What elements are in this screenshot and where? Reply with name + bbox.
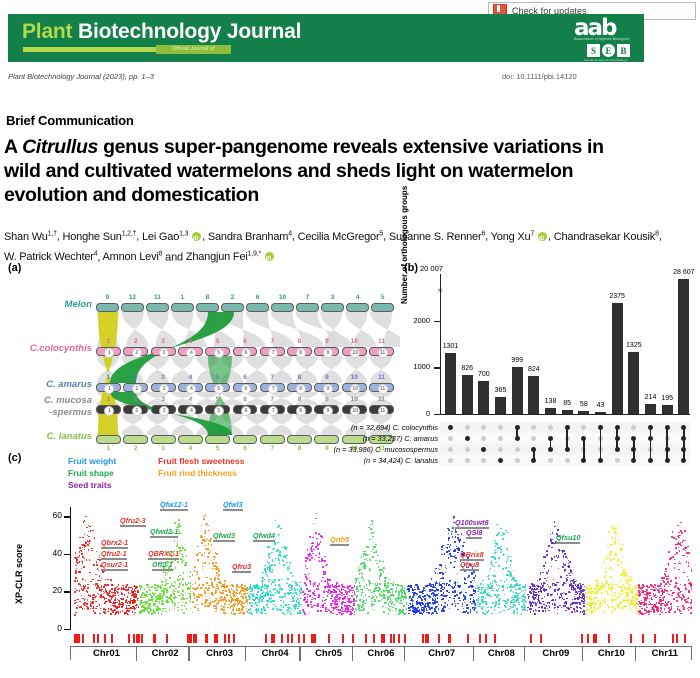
chromosome-number: 11 <box>372 338 392 345</box>
chromosome-bar[interactable] <box>346 303 369 312</box>
qtl-tick <box>593 634 595 643</box>
chromosome-number: 7 <box>298 294 318 301</box>
qtl-tick <box>128 634 130 643</box>
synteny-marker-dot: 2 <box>132 348 142 358</box>
chromosome-bar[interactable] <box>121 303 144 312</box>
chromosome-number: 3 <box>153 338 173 345</box>
y-tick-label: 1000 <box>404 362 430 371</box>
synteny-marker-dot: 4 <box>186 384 196 394</box>
upset-bar[interactable] <box>462 375 473 414</box>
synteny-marker-dot: 11 <box>378 406 388 416</box>
y-tick-label: 20 <box>40 585 62 595</box>
aab-logo-subtitle: Association of Applied Biologists <box>574 37 630 41</box>
chromosome-number: 7 <box>262 338 282 345</box>
matrix-connector <box>550 438 551 449</box>
chromosome-number: 1 <box>98 396 118 403</box>
panel-a-letter: (a) <box>8 262 21 274</box>
matrix-dot-filled[interactable] <box>465 436 470 441</box>
matrix-dot-empty[interactable] <box>498 425 503 430</box>
qtl-tick <box>224 634 226 643</box>
qtl-tick <box>381 634 383 643</box>
chromosome-number: 10 <box>273 294 293 301</box>
upset-set-label: (n = 32,694) C. colocynthis <box>278 423 438 432</box>
chromosome-number: 9 <box>317 374 337 381</box>
chromosome-bar[interactable] <box>271 303 294 312</box>
chromosome-number: 10 <box>344 396 364 403</box>
chromosome-number: 6 <box>235 396 255 403</box>
chromosome-separator <box>582 647 583 661</box>
chromosome-number: 6 <box>235 374 255 381</box>
qtl-annotation[interactable]: Qfru3 <box>232 562 251 571</box>
upset-bar[interactable] <box>628 352 639 414</box>
qtl-tick <box>438 634 440 643</box>
author-name[interactable]: Yong Xu7 <box>491 231 535 243</box>
matrix-dot-filled[interactable] <box>448 425 453 430</box>
chromosome-number: 3 <box>153 396 173 403</box>
chromosome-number: 2 <box>126 338 146 345</box>
qtl-tick <box>485 634 487 643</box>
qtl-tick <box>393 634 395 643</box>
chromosome-axis-label[interactable]: Chr09 <box>534 648 578 659</box>
synteny-marker-dot: 9 <box>323 348 333 358</box>
chromosome-number: 2 <box>126 374 146 381</box>
qtl-tick <box>228 634 230 643</box>
synteny-marker-dot: 1 <box>104 384 114 394</box>
qtl-tick <box>93 634 95 643</box>
seb-letter-e: E <box>602 44 615 57</box>
synteny-marker-dot: 7 <box>268 406 278 416</box>
chromosome-bar[interactable] <box>233 435 258 444</box>
matrix-dot-empty[interactable] <box>548 425 553 430</box>
bar-value-label: 28 607 <box>669 269 699 276</box>
qtl-tick <box>328 634 330 643</box>
qtl-tick <box>608 634 610 643</box>
chromosome-number: 4 <box>348 294 368 301</box>
chromosome-bar[interactable] <box>171 303 194 312</box>
matrix-dot-empty[interactable] <box>498 436 503 441</box>
axis-break-icon: ≈ <box>438 286 442 295</box>
y-tick <box>434 414 440 415</box>
qtl-tick <box>479 634 481 643</box>
synteny-marker-dot: 10 <box>350 348 360 358</box>
qtl-annotation[interactable]: Qrth5 <box>330 535 349 544</box>
chromosome-scatter-band[interactable] <box>585 507 637 629</box>
qtl-tick <box>494 634 496 643</box>
chromosome-separator <box>635 647 636 661</box>
chromosome-number: 9 <box>317 396 337 403</box>
synteny-marker-dot: 4 <box>186 406 196 416</box>
chromosome-bar[interactable] <box>178 435 203 444</box>
qtl-tick <box>78 634 80 643</box>
author-name[interactable]: Sandra Branham4 <box>208 231 292 243</box>
chromosome-number: 11 <box>372 396 392 403</box>
qtl-annotation[interactable]: Qfru2-1 <box>101 549 127 558</box>
chromosome-bar[interactable] <box>96 303 119 312</box>
panel-b-x-axis <box>440 414 690 415</box>
qtl-tick <box>265 634 267 643</box>
upset-bar[interactable] <box>678 279 689 414</box>
matrix-connector <box>616 427 617 449</box>
qtl-annotation[interactable]: Qfwl3 <box>223 500 243 509</box>
chromosome-bar[interactable] <box>146 303 169 312</box>
chromosome-number: 6 <box>248 294 268 301</box>
chromosome-number: 4 <box>180 374 200 381</box>
author-name[interactable]: Amnon Levi8 <box>103 251 163 263</box>
chromosome-number: 5 <box>208 338 228 345</box>
qtl-tick <box>311 634 313 643</box>
chromosome-number: 1 <box>98 445 118 452</box>
synteny-marker-dot: 9 <box>323 406 333 416</box>
synteny-marker-dot: 11 <box>378 384 388 394</box>
chromosome-number: 4 <box>180 338 200 345</box>
chromosome-bar[interactable] <box>246 303 269 312</box>
author-separator: , <box>57 231 63 243</box>
upset-bar[interactable] <box>645 404 656 414</box>
qtl-tick <box>581 634 583 643</box>
qtl-tick <box>138 634 140 643</box>
chromosome-separator <box>473 647 474 661</box>
author-list: Shan Wu1,†, Honghe Sun1,2,†, Lei Gao1,3 … <box>4 225 674 266</box>
qtl-tick <box>422 634 424 643</box>
synteny-marker-dot: 3 <box>159 406 169 416</box>
chromosome-axis-label[interactable]: Chr07 <box>420 648 464 659</box>
title-pre: A <box>4 136 22 158</box>
seb-logo-subtitle: Society for Experimental Biology <box>584 58 630 62</box>
qtl-tick <box>216 634 218 643</box>
chromosome-separator <box>188 647 189 661</box>
synteny-marker-dot: 10 <box>350 384 360 394</box>
synteny-marker-dot: 5 <box>214 348 224 358</box>
upset-bar[interactable] <box>445 353 456 414</box>
qtl-tick <box>448 634 450 643</box>
synteny-marker-dot: 5 <box>214 384 224 394</box>
chromosome-number: 4 <box>180 445 200 452</box>
qtl-annotation[interactable]: QBrix8 <box>460 550 484 559</box>
masthead-rule-tag: Official Journal of <box>156 45 231 54</box>
bar-value-label: 999 <box>502 357 532 364</box>
y-tick-label: 0 <box>40 623 62 633</box>
author-name[interactable]: Honghe Sun1,2,† <box>63 231 137 243</box>
bar-value-label: 1325 <box>619 342 649 349</box>
chromosome-number: 2 <box>126 396 146 403</box>
chromosome-number: 6 <box>235 445 255 452</box>
qtl-tick <box>425 634 427 643</box>
author-name[interactable]: Lei Gao1,3 <box>142 231 188 243</box>
chromosome-number: 3 <box>153 374 173 381</box>
qtl-tick <box>587 634 589 643</box>
upset-bar[interactable] <box>595 412 606 414</box>
panel-c-manhattan-plot: XP-CLR score Fruit weightFruit flesh swe… <box>8 452 696 674</box>
author-separator: , <box>292 231 298 243</box>
qtl-tick <box>188 634 190 643</box>
synteny-marker-dot: 8 <box>296 348 306 358</box>
orcid-icon[interactable] <box>538 232 547 241</box>
qtl-tick <box>166 634 168 643</box>
chromosome-axis-label[interactable]: Chr04 <box>253 648 297 659</box>
chromosome-bar[interactable] <box>321 303 344 312</box>
qtl-annotation[interactable]: Qfru8 <box>460 560 479 569</box>
chromosome-number: 5 <box>208 374 228 381</box>
chromosome-number: 5 <box>208 445 228 452</box>
legend-item: Fruit weight <box>68 456 116 466</box>
synteny-marker-dot: 8 <box>296 384 306 394</box>
qtl-tick <box>104 634 106 643</box>
panel-c-y-axis <box>70 507 71 629</box>
synteny-marker-dot: 9 <box>323 384 333 394</box>
upset-bar[interactable] <box>528 376 539 414</box>
author-separator: , <box>659 231 662 243</box>
qtl-tick <box>672 634 674 643</box>
chromosome-scatter-band[interactable] <box>355 507 407 629</box>
synteny-marker-dot: 6 <box>241 348 251 358</box>
bar-value-label: 1301 <box>436 343 466 350</box>
qtl-tick <box>298 634 300 643</box>
matrix-dot-empty[interactable] <box>448 436 453 441</box>
article-type: Brief Communication <box>6 113 134 128</box>
chromosome-scatter-band[interactable] <box>248 507 302 629</box>
author-separator: , <box>548 231 554 243</box>
qtl-tick <box>233 634 235 643</box>
chromosome-number: 7 <box>262 374 282 381</box>
chromosome-bar[interactable] <box>221 303 244 312</box>
synteny-marker-dot: 1 <box>104 348 114 358</box>
author-separator: , <box>97 251 102 263</box>
chromosome-bar[interactable] <box>205 435 230 444</box>
page-title: A Citrullus genus super-pangenome reveal… <box>4 135 644 207</box>
synteny-marker-dot: 2 <box>132 384 142 394</box>
author-name[interactable]: Chandrasekar Kousik8 <box>554 231 659 243</box>
bar-value-label: 824 <box>519 366 549 373</box>
chromosome-bar[interactable] <box>96 435 121 444</box>
journal-title: Plant Biotechnology Journal <box>22 20 301 44</box>
chromosome-bar[interactable] <box>196 303 219 312</box>
seb-letter-b: B <box>617 44 630 57</box>
author-name[interactable]: Shan Wu1,† <box>4 231 57 243</box>
chromosome-number: 1 <box>98 374 118 381</box>
upset-bar[interactable] <box>662 405 673 414</box>
synteny-marker-dot: 5 <box>214 406 224 416</box>
qtl-tick <box>365 634 367 643</box>
chromosome-number: 9 <box>97 294 117 301</box>
doi-text[interactable]: doi: 10.1111/pbi.14120 <box>502 72 577 81</box>
qtl-annotation[interactable]: Qfwd4 <box>253 531 275 540</box>
upset-bar[interactable] <box>562 410 573 414</box>
synteny-marker-dot: 2 <box>132 406 142 416</box>
synteny-marker-dot: 8 <box>296 406 306 416</box>
y-tick <box>64 516 71 517</box>
qtl-tick <box>141 634 143 643</box>
qtl-tick <box>97 634 99 643</box>
author-separator: and <box>162 251 185 263</box>
qtl-annotation[interactable]: QBRX2-1 <box>148 549 179 558</box>
qtl-annotation[interactable]: Q100swt8 <box>455 518 489 527</box>
qtl-annotation[interactable]: Qfw12-1 <box>160 500 188 509</box>
upset-bar[interactable] <box>578 411 589 414</box>
panel-c-y-axis-label: XP-CLR score <box>14 544 24 604</box>
qtl-annotation[interactable]: Qsur2-1 <box>101 560 128 569</box>
y-tick-label: 40 <box>40 548 62 558</box>
chromosome-number: 1 <box>172 294 192 301</box>
chromosome-number: 8 <box>290 338 310 345</box>
matrix-dot-empty[interactable] <box>465 425 470 430</box>
journal-title-word2: Biotechnology Journal <box>78 20 301 43</box>
qtl-annotation[interactable]: Qfsu10 <box>556 533 580 542</box>
qtl-tick <box>287 634 289 643</box>
y-tick <box>64 554 71 555</box>
author-separator: , <box>485 231 491 243</box>
qtl-tick <box>271 634 273 643</box>
chromosome-axis-label[interactable]: Chr08 <box>479 648 523 659</box>
chromosome-axis-label[interactable]: Chr06 <box>359 648 403 659</box>
synteny-marker-dot: 3 <box>159 384 169 394</box>
legend-item: Fruit shape <box>68 468 114 478</box>
qtl-tick <box>195 634 197 643</box>
y-tick <box>434 321 440 322</box>
qtl-annotation[interactable]: Qfru2-3 <box>120 516 146 525</box>
synteny-marker-dot: 6 <box>241 406 251 416</box>
chromosome-number: 10 <box>344 374 364 381</box>
qtl-tick <box>314 634 316 643</box>
qtl-tick <box>133 634 135 643</box>
panel-b-y-axis-label: Number of orthologous groups <box>400 184 409 304</box>
upset-bar[interactable] <box>545 408 556 414</box>
legend-item: Fruit flesh sweetness <box>158 456 244 466</box>
qtl-tick <box>291 634 293 643</box>
chromosome-axis-label[interactable]: Chr11 <box>643 648 687 659</box>
qtl-tick <box>684 634 686 643</box>
chromosome-number: 11 <box>372 374 392 381</box>
chromosome-scatter-band[interactable] <box>527 507 586 629</box>
synteny-marker-dot: 7 <box>268 348 278 358</box>
qtl-tick <box>352 634 354 643</box>
qtl-tick <box>281 634 283 643</box>
qtl-tick <box>467 634 469 643</box>
chromosome-number: 8 <box>197 294 217 301</box>
qtl-tick <box>676 634 678 643</box>
qtl-annotation[interactable]: QSl8 <box>466 528 482 537</box>
upset-bar[interactable] <box>512 367 523 414</box>
chromosome-axis-label[interactable]: Chr01 <box>84 648 128 659</box>
y-tick-label: 60 <box>40 510 62 520</box>
chromosome-separator <box>524 647 525 661</box>
chromosome-number: 10 <box>344 338 364 345</box>
chromosome-number: 8 <box>290 396 310 403</box>
synteny-marker-dot: 3 <box>159 348 169 358</box>
bar-value-label: 700 <box>469 371 499 378</box>
synteny-marker-dot: 6 <box>241 384 251 394</box>
qtl-tick <box>530 634 532 643</box>
synteny-marker-dot: 11 <box>378 348 388 358</box>
chromosome-axis-label[interactable]: Chr10 <box>589 648 633 659</box>
chromosome-bar[interactable] <box>123 435 148 444</box>
y-tick-label: 0 <box>404 409 430 418</box>
qtl-tick <box>273 634 275 643</box>
running-head-citation: Plant Biotechnology Journal (2023), pp. … <box>8 72 154 81</box>
qtl-tick <box>630 634 632 643</box>
chromosome-separator <box>404 647 405 661</box>
orcid-icon[interactable] <box>192 232 201 241</box>
upset-bar[interactable] <box>495 397 506 414</box>
qtl-tick <box>342 634 344 643</box>
matrix-connector <box>566 427 567 449</box>
chromosome-bar[interactable] <box>296 303 319 312</box>
qtl-annotation[interactable]: Qfwd3 <box>213 531 235 540</box>
qtl-tick <box>398 634 400 643</box>
journal-masthead: Plant Biotechnology Journal Official Jou… <box>8 14 644 62</box>
chromosome-number: 9 <box>317 338 337 345</box>
qtl-annotation[interactable]: Qfwd2-1 <box>150 527 178 536</box>
qtl-tick <box>404 634 406 643</box>
qtl-annotation[interactable]: Qbrx2-1 <box>101 538 128 547</box>
matrix-connector <box>516 427 517 438</box>
author-name[interactable]: Cecilia McGregor5 <box>298 231 383 243</box>
qtl-tick <box>642 634 644 643</box>
journal-title-word1: Plant <box>22 20 72 43</box>
qtl-annotation[interactable]: Off2-1 <box>152 560 173 569</box>
chromosome-number: 5 <box>208 396 228 403</box>
upset-set-label: (n = 33,237) C. amarus <box>278 434 438 443</box>
legend-item: Fruit rind thickness <box>158 468 237 478</box>
chromosome-number: 1 <box>98 338 118 345</box>
panel-b-upset-plot: Number of orthologous groups ≈ 20 007 01… <box>404 262 696 462</box>
chromosome-number: 8 <box>290 374 310 381</box>
chromosome-axis-label[interactable]: Chr02 <box>143 648 187 659</box>
chromosome-scatter-band[interactable] <box>638 507 692 629</box>
upset-bar[interactable] <box>612 303 623 414</box>
y-tick-label: 2000 <box>404 316 430 325</box>
synteny-marker-dot: 4 <box>186 348 196 358</box>
synteny-marker-dot: 10 <box>350 406 360 416</box>
qtl-tick <box>390 634 392 643</box>
chromosome-bar[interactable] <box>371 303 394 312</box>
chromosome-number: 6 <box>235 338 255 345</box>
title-genus: Citrullus <box>22 136 98 158</box>
chromosome-axis-label[interactable]: Chr05 <box>307 648 351 659</box>
orcid-icon[interactable] <box>265 252 274 261</box>
qtl-tick <box>82 634 84 643</box>
author-name[interactable]: Zhangjun Fei1,9,* <box>186 251 261 263</box>
chromosome-separator <box>299 647 300 661</box>
qtl-tick <box>111 634 113 643</box>
chromosome-number: 5 <box>373 294 393 301</box>
qtl-tick <box>303 634 305 643</box>
chromosome-scatter-band[interactable] <box>302 507 354 629</box>
legend-item: Seed traits <box>68 480 111 490</box>
seb-logo: S E B <box>587 44 630 57</box>
qtl-tick <box>654 634 656 643</box>
chromosome-number: 12 <box>122 294 142 301</box>
y-tick <box>64 591 71 592</box>
seb-letter-s: S <box>587 44 600 57</box>
chromosome-separator <box>245 647 246 661</box>
chromosome-number: 3 <box>323 294 343 301</box>
chromosome-axis-label[interactable]: Chr03 <box>198 648 242 659</box>
bar-value-label: 2375 <box>602 293 632 300</box>
chromosome-bar[interactable] <box>151 435 176 444</box>
y-tick <box>64 629 71 630</box>
qtl-tick <box>193 634 195 643</box>
chromosome-number: 4 <box>180 396 200 403</box>
chromosome-number: 11 <box>147 294 167 301</box>
qtl-tick <box>373 634 375 643</box>
author-separator: , <box>202 231 208 243</box>
qtl-tick-track <box>74 634 692 644</box>
panel-b-axis-top-label: 20 007 <box>420 264 443 273</box>
chromosome-number: 2 <box>222 294 242 301</box>
synteny-marker-dot: 7 <box>268 384 278 394</box>
author-separator: , <box>383 231 389 243</box>
qtl-tick <box>206 634 208 643</box>
